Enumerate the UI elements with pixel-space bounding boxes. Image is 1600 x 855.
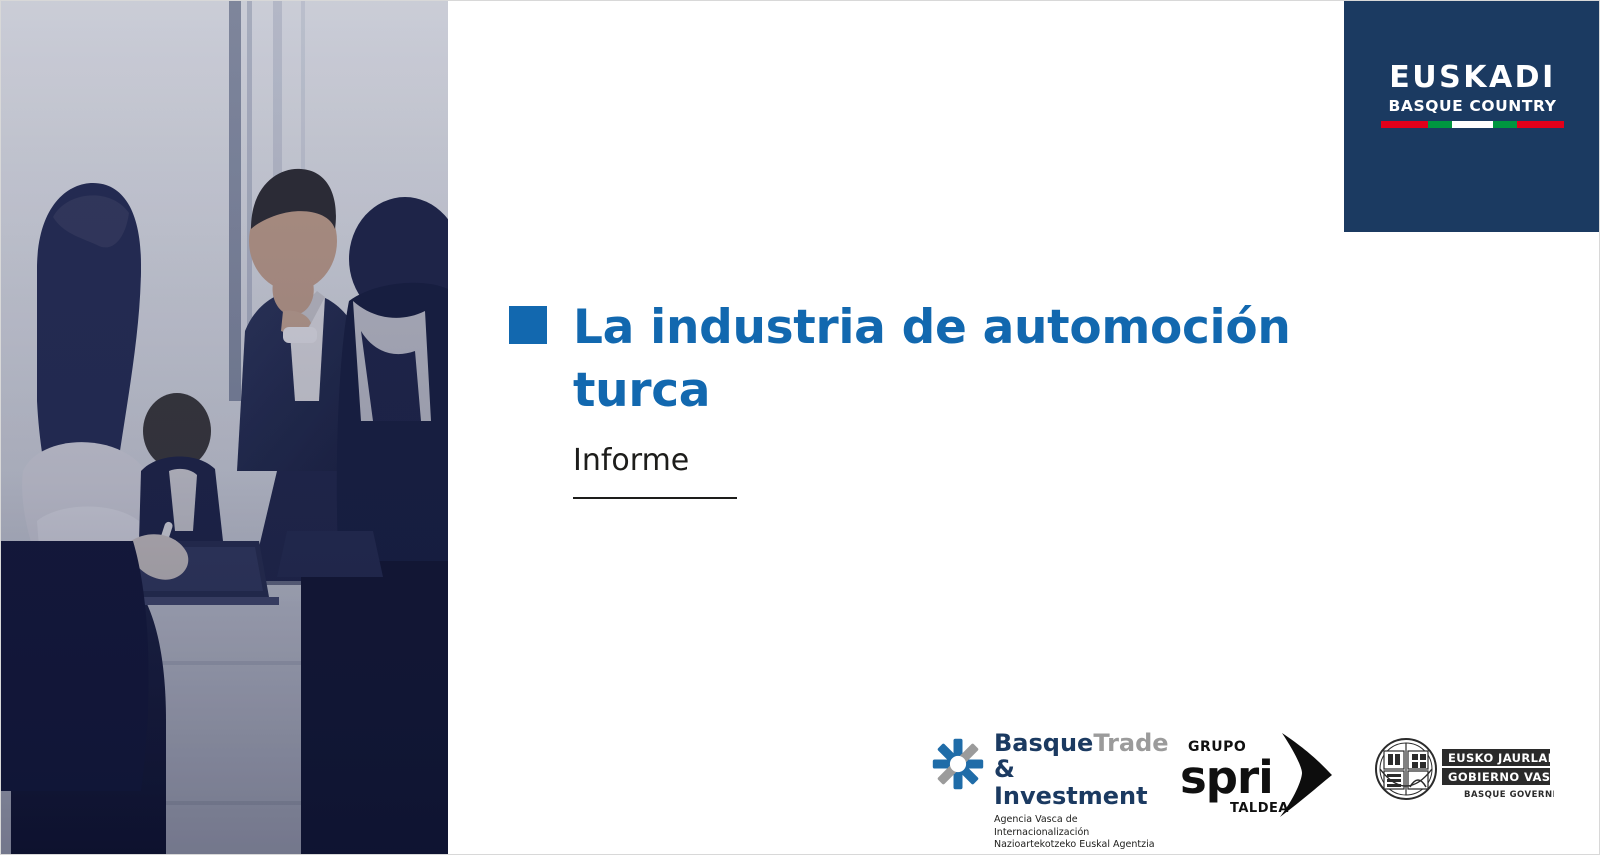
page-title: La industria de automoción turca — [573, 297, 1313, 422]
cover-photo — [1, 1, 448, 855]
basque-trade-line2: & Investment — [994, 756, 1169, 810]
basque-trade-sub-es: Agencia Vasca de Internacionalización — [994, 814, 1169, 840]
spri-main-label: spri — [1180, 751, 1273, 804]
euskadi-wordmark: EUSKADI — [1381, 63, 1565, 93]
basque-trade-text: BasqueTrade & Investment Agencia Vasca d… — [994, 731, 1169, 852]
footer-logo-strip: BasqueTrade & Investment Agencia Vasca d… — [931, 727, 1561, 827]
square-bullet-icon — [509, 306, 547, 344]
trade-word: Trade — [1093, 729, 1168, 757]
logo-basque-trade-investment: BasqueTrade & Investment Agencia Vasca d… — [931, 727, 1146, 852]
basque-trade-sub-eu: Nazioartekotzeko Euskal Agentzia — [994, 839, 1169, 852]
logo-grupo-spri-taldea: GRUPO spri TALDEA — [1174, 727, 1334, 819]
logo-eusko-jaurlaritza: EUSKO JAURLARITZA GOBIERNO VASCO BASQUE … — [1374, 735, 1554, 815]
basque-trade-asterisk-icon — [931, 737, 985, 791]
cover-photo-illustration — [1, 1, 448, 855]
title-area: La industria de automoción turca Informe — [509, 297, 1329, 499]
basque-country-wordmark: BASQUE COUNTRY — [1381, 99, 1565, 115]
basque-word: Basque — [994, 729, 1093, 757]
euskadi-brand-block: EUSKADI BASQUE COUNTRY — [1344, 1, 1600, 232]
cover-slide: EUSKADI BASQUE COUNTRY La industria de a… — [0, 0, 1600, 855]
spri-logo-icon: GRUPO spri TALDEA — [1174, 727, 1334, 819]
basque-trade-line1: BasqueTrade — [994, 731, 1169, 756]
page-subtitle: Informe — [573, 444, 1329, 477]
euskadi-brand-inner: EUSKADI BASQUE COUNTRY — [1381, 63, 1565, 128]
subtitle-divider — [573, 497, 737, 499]
ikurrina-stripe-icon — [1381, 121, 1565, 128]
spri-taldea-label: TALDEA — [1230, 801, 1289, 816]
gobierno-vasco-logo-icon: EUSKO JAURLARITZA GOBIERNO VASCO BASQUE … — [1374, 735, 1554, 815]
basque-government-label: BASQUE GOVERNMENT — [1464, 790, 1554, 800]
title-row: La industria de automoción turca — [509, 297, 1329, 422]
gobierno-vasco-label: GOBIERNO VASCO — [1448, 770, 1554, 784]
coat-of-arms-seal-icon — [1376, 739, 1436, 799]
eusko-jaurlaritza-label: EUSKO JAURLARITZA — [1448, 751, 1554, 765]
